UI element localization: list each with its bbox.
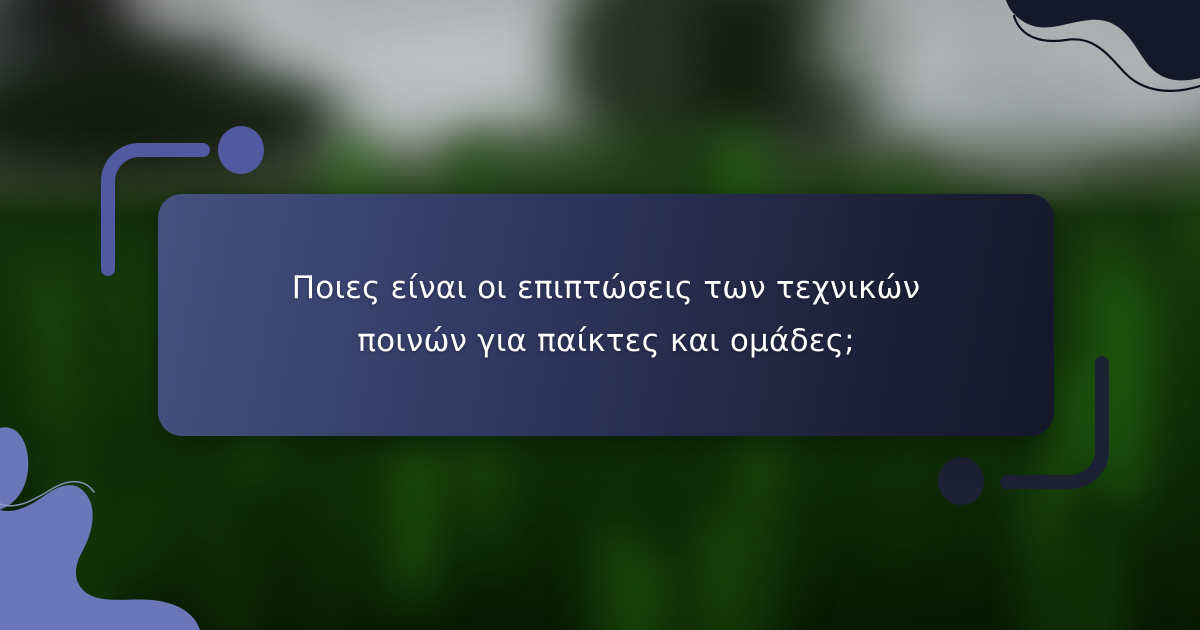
accent-dot-bottom-right-icon [936, 456, 986, 506]
slide-canvas: Ποιες είναι οι επιπτώσεις των τεχνικών π… [0, 0, 1200, 630]
quote-text: Ποιες είναι οι επιπτώσεις των τεχνικών π… [256, 262, 956, 369]
organic-blob-top-right [970, 0, 1200, 150]
quote-card: Ποιες είναι οι επιπτώσεις των τεχνικών π… [158, 194, 1054, 436]
organic-blob-bottom-left [0, 410, 230, 630]
accent-dot-top-left-icon [216, 125, 266, 175]
